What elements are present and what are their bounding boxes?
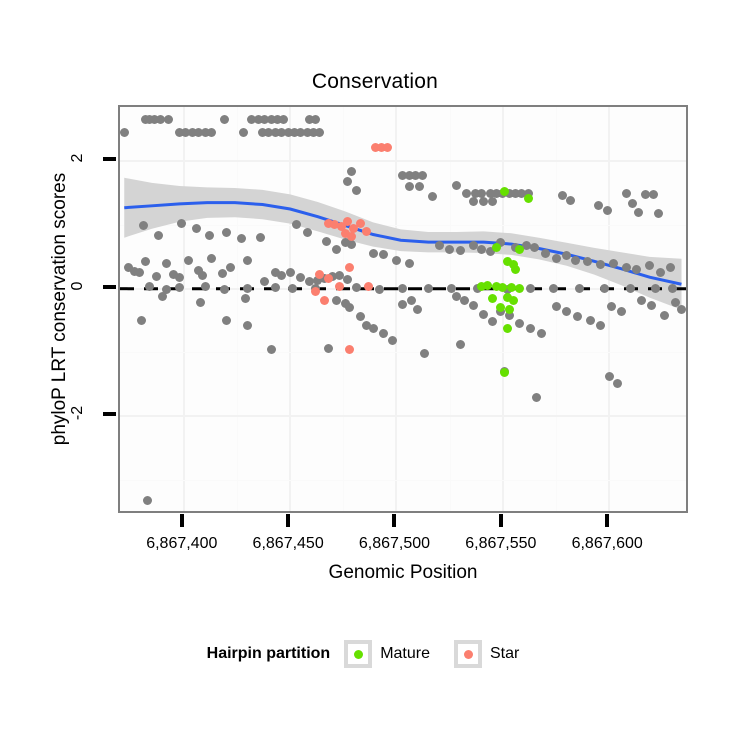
data-point-star: [345, 263, 354, 272]
chart-root: Conservation phyloP LRT conservation sco…: [0, 0, 750, 750]
x-tick-mark: [392, 514, 396, 527]
trend-overlay: [120, 107, 686, 511]
data-point-none: [445, 245, 454, 254]
data-point-none: [435, 241, 444, 250]
data-point-none: [352, 283, 361, 292]
data-point-none: [347, 240, 356, 249]
data-point-none: [609, 259, 618, 268]
data-point-none: [218, 269, 227, 278]
data-point-none: [267, 345, 276, 354]
legend-item-star[interactable]: Star: [454, 640, 537, 668]
data-point-none: [552, 302, 561, 311]
x-tick-mark: [499, 514, 503, 527]
data-point-mature: [505, 305, 514, 314]
data-point-none: [622, 263, 631, 272]
legend-item-mature[interactable]: Mature: [344, 640, 448, 668]
legend-dot-star-icon: [464, 650, 473, 659]
x-tick-mark: [605, 514, 609, 527]
legend-dot-mature-icon: [354, 650, 363, 659]
data-point-none: [413, 305, 422, 314]
data-point-none: [571, 256, 580, 265]
data-point-none: [158, 292, 167, 301]
data-point-none: [552, 254, 561, 263]
data-point-none: [460, 296, 469, 305]
legend-key-mature: [344, 640, 372, 668]
data-point-none: [226, 263, 235, 272]
data-point-none: [205, 231, 214, 240]
legend-label-mature: Mature: [380, 645, 430, 663]
data-point-none: [677, 305, 686, 314]
legend-label-star: Star: [490, 645, 519, 663]
data-point-none: [352, 186, 361, 195]
data-point-none: [405, 182, 414, 191]
page-title: Conservation: [0, 70, 750, 94]
data-point-none: [260, 277, 269, 286]
y-tick-label: -2: [69, 393, 87, 433]
data-point-none: [239, 128, 248, 137]
data-point-none: [152, 272, 161, 281]
data-point-mature: [503, 324, 512, 333]
y-tick-mark: [103, 412, 116, 416]
data-point-none: [201, 282, 210, 291]
data-point-none: [462, 189, 471, 198]
data-point-none: [143, 496, 152, 505]
data-point-none: [207, 128, 216, 137]
x-tick-mark: [286, 514, 290, 527]
data-point-none: [207, 254, 216, 263]
data-point-none: [477, 189, 486, 198]
data-point-none: [288, 284, 297, 293]
data-point-none: [222, 228, 231, 237]
data-point-none: [488, 317, 497, 326]
data-point-none: [256, 233, 265, 242]
data-point-none: [286, 268, 295, 277]
data-point-none: [469, 301, 478, 310]
data-point-none: [532, 393, 541, 402]
plot-panel: [118, 105, 688, 513]
data-point-none: [324, 344, 333, 353]
legend-title: Hairpin partition: [207, 645, 331, 663]
y-tick-label: 2: [69, 138, 87, 178]
data-point-none: [379, 329, 388, 338]
data-point-none: [184, 256, 193, 265]
data-point-none: [607, 302, 616, 311]
data-point-none: [241, 294, 250, 303]
data-point-none: [135, 268, 144, 277]
data-point-none: [356, 312, 365, 321]
data-point-none: [407, 296, 416, 305]
data-point-none: [120, 128, 129, 137]
data-point-star: [320, 296, 329, 305]
data-point-none: [656, 268, 665, 277]
data-point-none: [154, 231, 163, 240]
data-point-none: [613, 379, 622, 388]
legend-items: MatureStar: [344, 640, 543, 668]
data-point-none: [220, 115, 229, 124]
data-point-none: [537, 329, 546, 338]
data-point-none: [369, 324, 378, 333]
data-point-none: [392, 256, 401, 265]
data-point-none: [322, 237, 331, 246]
y-tick-mark: [103, 285, 116, 289]
data-point-none: [573, 312, 582, 321]
data-point-none: [479, 310, 488, 319]
data-point-none: [541, 249, 550, 258]
x-tick-label: 6,867,600: [542, 535, 672, 553]
x-axis-title: Genomic Position: [118, 562, 688, 584]
data-point-none: [603, 206, 612, 215]
data-point-none: [622, 189, 631, 198]
data-point-none: [549, 284, 558, 293]
x-tick-mark: [180, 514, 184, 527]
data-point-none: [586, 316, 595, 325]
y-tick-mark: [103, 157, 116, 161]
data-point-none: [137, 316, 146, 325]
data-point-none: [637, 296, 646, 305]
data-point-none: [296, 273, 305, 282]
data-point-none: [175, 283, 184, 292]
y-axis-title: phyloP LRT conservation scores: [49, 99, 71, 519]
data-point-mature: [509, 296, 518, 305]
data-point-none: [647, 301, 656, 310]
data-point-none: [660, 311, 669, 320]
data-point-none: [477, 245, 486, 254]
data-point-none: [456, 246, 465, 255]
data-point-none: [526, 324, 535, 333]
data-point-star: [324, 274, 333, 283]
data-point-none: [192, 224, 201, 233]
data-point-none: [418, 171, 427, 180]
data-point-none: [605, 372, 614, 381]
data-point-none: [303, 228, 312, 237]
data-point-none: [162, 259, 171, 268]
legend: Hairpin partition MatureStar: [0, 640, 750, 668]
legend-key-star: [454, 640, 482, 668]
data-point-mature: [515, 245, 524, 254]
data-point-none: [654, 209, 663, 218]
data-point-none: [369, 249, 378, 258]
data-point-none: [277, 271, 286, 280]
data-point-none: [139, 221, 148, 230]
y-tick-label: 0: [69, 266, 87, 306]
data-point-star: [335, 282, 344, 291]
data-point-none: [420, 349, 429, 358]
data-point-none: [452, 181, 461, 190]
data-point-star: [362, 227, 371, 236]
plot-area: [120, 107, 686, 511]
data-point-none: [405, 259, 414, 268]
data-point-none: [271, 283, 280, 292]
data-point-none: [375, 285, 384, 294]
data-point-none: [222, 316, 231, 325]
